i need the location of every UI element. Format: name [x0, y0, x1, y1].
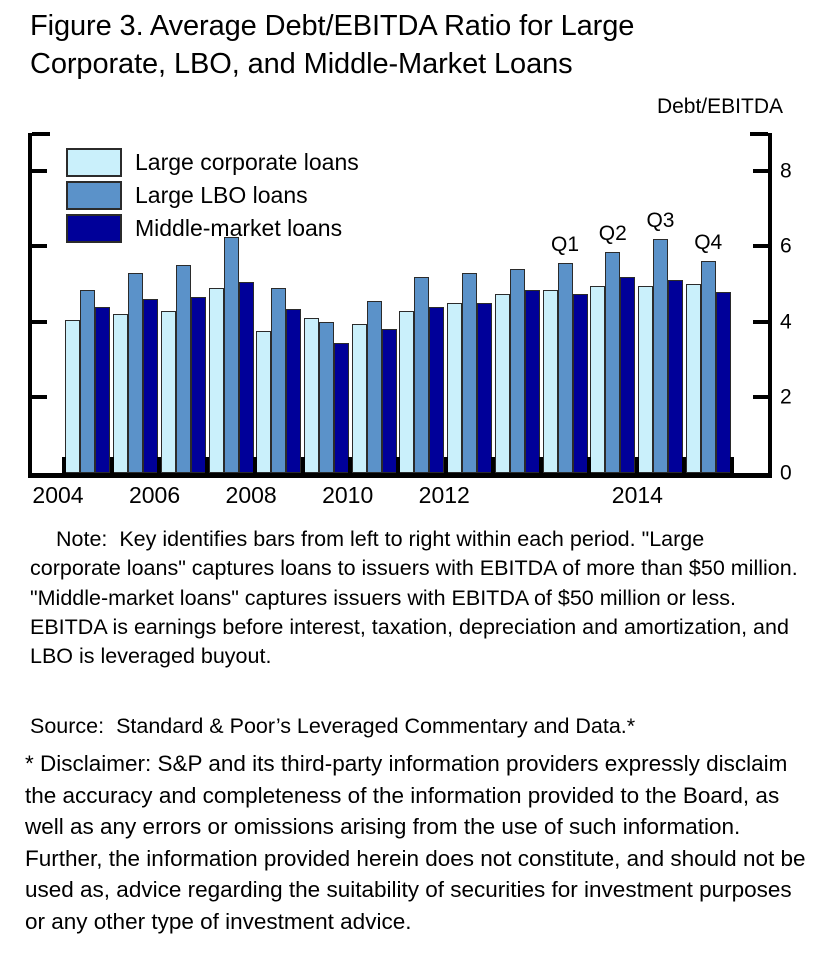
x-axis-tick-label: 2014 [612, 484, 663, 507]
y-tick-left [32, 169, 47, 173]
bar-group: Q4 [684, 133, 732, 473]
y-tick-right [753, 320, 768, 324]
y-axis-unit-label: Debt/EBITDA [657, 95, 783, 119]
bar [510, 269, 525, 473]
bar-group: Q3 [637, 133, 685, 473]
y-axis-tick-label: 8 [780, 160, 792, 181]
bar [477, 303, 492, 473]
bar [319, 322, 334, 473]
bar [495, 294, 510, 473]
y-tick-left [32, 244, 47, 248]
y-tick-right [753, 244, 768, 248]
x-axis-label-cell [495, 484, 543, 518]
bar [239, 282, 254, 473]
period-label: Q4 [694, 232, 722, 253]
x-axis-label-cell: 2012 [446, 484, 494, 518]
y-axis-tick-label: 2 [780, 387, 792, 408]
bar [256, 331, 271, 473]
y-axis-tick-label: 4 [780, 311, 792, 332]
legend-label: Large LBO loans [135, 184, 308, 207]
bar [429, 307, 444, 473]
bar [382, 329, 397, 473]
page-title: Figure 3. Average Debt/EBITDA Ratio for … [30, 8, 800, 83]
legend-item: Large corporate loans [66, 146, 359, 179]
legend-item: Middle-market loans [66, 212, 359, 245]
title-line-2: Corporate, LBO, and Middle-Market Loans [30, 46, 800, 84]
bar [543, 290, 558, 473]
y-axis-tick-label: 6 [780, 236, 792, 257]
bar [334, 343, 349, 473]
bar-group [493, 133, 541, 473]
disclaimer-block: * Disclaimer: S&P and its third-party in… [25, 748, 810, 938]
bar [271, 288, 286, 473]
y-tick-right [753, 395, 768, 399]
x-axis-tick-label: 2008 [226, 484, 277, 507]
x-axis-label-cell: 2006 [157, 484, 205, 518]
bar [620, 277, 635, 473]
bar [686, 284, 701, 473]
bar-group: Q2 [589, 133, 637, 473]
legend-swatch [66, 214, 122, 243]
bar [447, 303, 462, 473]
bar [399, 311, 414, 473]
period-label: Q1 [551, 234, 579, 255]
bar [224, 237, 239, 473]
bar [462, 273, 477, 473]
source-text: Standard & Poor’s Leveraged Commentary a… [116, 714, 635, 738]
chart-legend: Large corporate loansLarge LBO loansMidd… [66, 146, 359, 245]
source-label: Source: [30, 714, 104, 738]
bar [653, 239, 668, 473]
bar [573, 294, 588, 473]
x-axis-label-cell: 2010 [350, 484, 398, 518]
bar [128, 273, 143, 473]
bar [80, 290, 95, 473]
bar [716, 292, 731, 473]
legend-swatch [66, 148, 122, 177]
bar [161, 311, 176, 473]
note-text: Key identifies bars from left to right w… [30, 527, 798, 668]
bar [143, 299, 158, 473]
bar [304, 318, 319, 473]
bar [352, 324, 367, 473]
x-axis-label-cell [688, 484, 736, 518]
note-label: Note: [56, 527, 107, 551]
x-axis-tick-label: 2006 [129, 484, 180, 507]
x-axis-label-cell: 2004 [60, 484, 108, 518]
y-tick-left [32, 395, 47, 399]
bar [414, 277, 429, 473]
bar [701, 261, 716, 473]
x-axis-labels: 200420062008201020122014 [28, 484, 772, 518]
source-block: Source: Standard & Poor’s Leveraged Comm… [30, 712, 800, 741]
period-label: Q3 [646, 210, 674, 231]
y-tick-right [753, 169, 768, 173]
y-axis-tick-label: 0 [780, 463, 792, 484]
bar [113, 314, 128, 473]
bar [558, 263, 573, 473]
legend-label: Large corporate loans [135, 151, 359, 174]
bar [638, 286, 653, 473]
period-label: Q2 [599, 223, 627, 244]
x-axis-tick-label: 2010 [322, 484, 373, 507]
bar [176, 265, 191, 473]
bar [525, 290, 540, 473]
bar [286, 309, 301, 473]
bar [367, 301, 382, 473]
x-axis-label-cell [543, 484, 591, 518]
bar [605, 252, 620, 473]
legend-item: Large LBO loans [66, 179, 359, 212]
bar [590, 286, 605, 473]
y-tick-left [32, 320, 47, 324]
bar [668, 280, 683, 473]
x-axis-tick-label: 2012 [419, 484, 470, 507]
title-line-1: Figure 3. Average Debt/EBITDA Ratio for … [30, 8, 800, 46]
legend-label: Middle-market loans [135, 217, 342, 240]
x-axis-label-cell: 2008 [253, 484, 301, 518]
x-axis-tick-label: 2004 [32, 484, 83, 507]
note-block: Note: Key identifies bars from left to r… [30, 525, 800, 672]
legend-swatch [66, 181, 122, 210]
figure-page: Figure 3. Average Debt/EBITDA Ratio for … [0, 0, 825, 977]
bar-group: Q1 [541, 133, 589, 473]
bar [95, 307, 110, 473]
bar [191, 297, 206, 473]
x-axis-label-cell: 2014 [639, 484, 687, 518]
bar-group [398, 133, 446, 473]
bar [209, 288, 224, 473]
bar-group [446, 133, 494, 473]
bar [65, 320, 80, 473]
